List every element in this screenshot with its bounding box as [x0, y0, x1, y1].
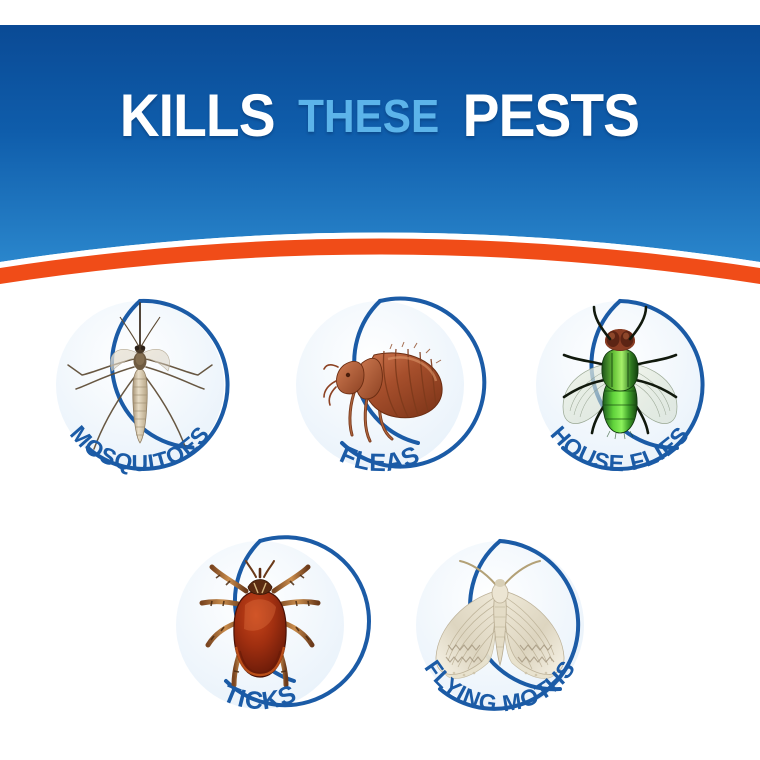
pest-badge-flying-moths[interactable]: FLYING MOTHS — [400, 525, 600, 745]
pest-badge-ticks[interactable]: TICKS — [160, 525, 360, 745]
pest-badge-mosquitoes[interactable]: MOSQUITOES — [40, 285, 240, 505]
page-title: KILLSTHESEPESTS — [0, 86, 760, 146]
pest-badge-fleas[interactable]: FLEAS — [280, 285, 480, 505]
header-banner: KILLSTHESEPESTS — [0, 0, 760, 300]
pest-badge-house-flies[interactable]: HOUSE FLIES — [520, 285, 720, 505]
poster-canvas: KILLSTHESEPESTS — [0, 0, 760, 760]
title-pests: PESTS — [463, 86, 639, 146]
title-these: THESE — [298, 93, 439, 139]
title-kills: KILLS — [120, 86, 275, 146]
